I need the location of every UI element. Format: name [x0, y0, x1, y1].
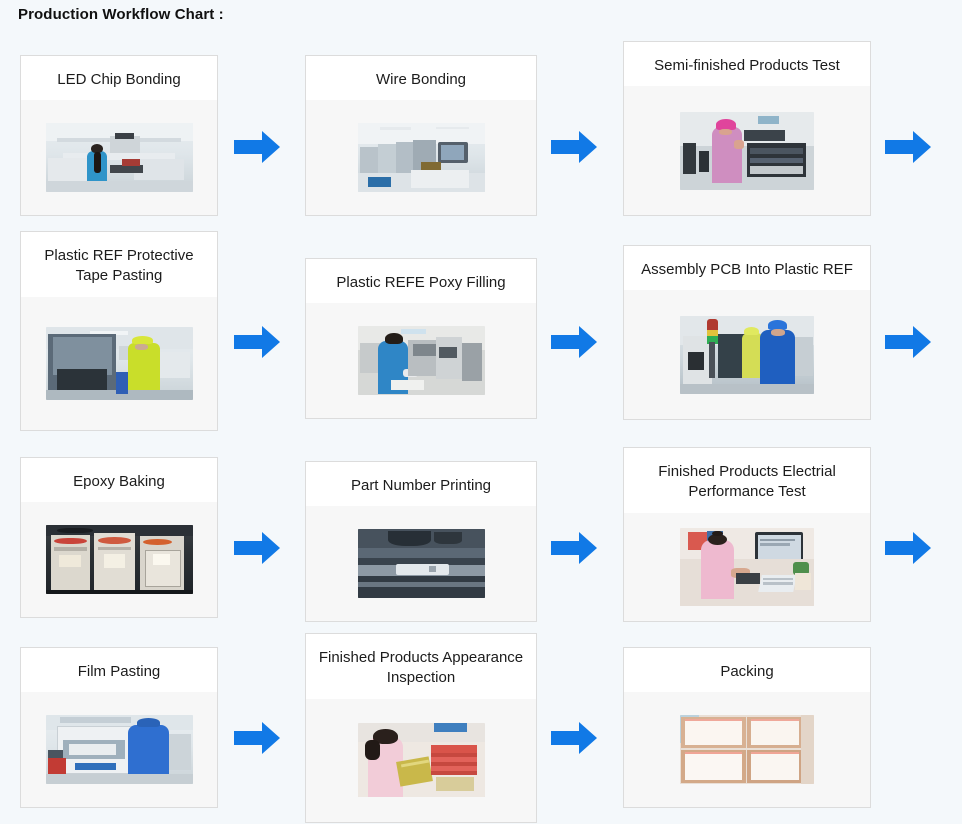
- arrow-right-icon: [549, 528, 599, 568]
- workflow-step-media-2: [306, 100, 536, 215]
- workflow-step-media-6: [624, 290, 870, 419]
- workflow-step-label-3: Semi-finished Products Test: [624, 42, 870, 86]
- workflow-step-media-11: [306, 699, 536, 823]
- arrow-right-icon-10-11: [232, 718, 282, 758]
- arrow-right-icon-3-4: [883, 127, 933, 167]
- workflow-step-media-7: [21, 502, 217, 617]
- packing-photo: [680, 715, 814, 784]
- workflow-step-card-9[interactable]: Finished Products Electrial Performance …: [623, 447, 871, 622]
- workflow-step-card-3[interactable]: Semi-finished Products Test: [623, 41, 871, 216]
- workflow-step-card-2[interactable]: Wire Bonding: [305, 55, 537, 216]
- arrow-right-icon: [232, 718, 282, 758]
- plastic-ref-protective-tape-pasting-photo: [46, 327, 193, 400]
- workflow-step-label-2: Wire Bonding: [306, 56, 536, 100]
- workflow-step-media-10: [21, 692, 217, 807]
- led-chip-bonding-photo: [46, 123, 193, 192]
- workflow-step-media-1: [21, 100, 217, 215]
- arrow-right-icon-6-7: [883, 322, 933, 362]
- workflow-step-card-7[interactable]: Epoxy Baking: [20, 457, 218, 618]
- workflow-step-label-1: LED Chip Bonding: [21, 56, 217, 100]
- arrow-right-icon-1-2: [232, 127, 282, 167]
- arrow-right-icon: [549, 718, 599, 758]
- wire-bonding-photo: [358, 123, 485, 192]
- part-number-printing-photo: [358, 529, 485, 598]
- film-pasting-photo: [46, 715, 193, 784]
- arrow-right-icon: [232, 528, 282, 568]
- finished-products-appearance-inspection-photo: [358, 723, 485, 797]
- page-title: Production Workflow Chart :: [18, 6, 224, 23]
- workflow-step-label-7: Epoxy Baking: [21, 458, 217, 502]
- workflow-step-label-5: Plastic REFE Poxy Filling: [306, 259, 536, 303]
- arrow-right-icon: [549, 127, 599, 167]
- epoxy-baking-photo: [46, 525, 193, 594]
- workflow-step-label-10: Film Pasting: [21, 648, 217, 692]
- arrow-right-icon: [232, 127, 282, 167]
- workflow-step-card-10[interactable]: Film Pasting: [20, 647, 218, 808]
- workflow-step-label-8: Part Number Printing: [306, 462, 536, 506]
- arrow-right-icon-8-9: [549, 528, 599, 568]
- arrow-right-icon: [232, 322, 282, 362]
- workflow-step-media-3: [624, 86, 870, 215]
- workflow-step-card-5[interactable]: Plastic REFE Poxy Filling: [305, 258, 537, 419]
- workflow-step-label-9: Finished Products Electrial Performance …: [624, 448, 870, 513]
- arrow-right-icon-9-10: [883, 528, 933, 568]
- workflow-step-label-12: Packing: [624, 648, 870, 692]
- workflow-step-card-6[interactable]: Assembly PCB Into Plastic REF: [623, 245, 871, 420]
- arrow-right-icon: [549, 322, 599, 362]
- plastic-refe-poxy-filling-photo: [358, 326, 485, 395]
- workflow-step-label-6: Assembly PCB Into Plastic REF: [624, 246, 870, 290]
- workflow-step-card-11[interactable]: Finished Products Appearance Inspection: [305, 633, 537, 823]
- workflow-step-card-4[interactable]: Plastic REF Protective Tape Pasting: [20, 231, 218, 431]
- arrow-right-icon: [883, 322, 933, 362]
- finished-products-electrial-performance-test-photo: [680, 528, 814, 606]
- semi-finished-products-test-photo: [680, 112, 814, 190]
- arrow-right-icon-5-6: [549, 322, 599, 362]
- arrow-right-icon: [883, 528, 933, 568]
- workflow-step-label-4: Plastic REF Protective Tape Pasting: [21, 232, 217, 297]
- arrow-right-icon-2-3: [549, 127, 599, 167]
- arrow-right-icon-7-8: [232, 528, 282, 568]
- workflow-step-media-5: [306, 303, 536, 418]
- workflow-step-card-12[interactable]: Packing: [623, 647, 871, 808]
- workflow-step-media-8: [306, 506, 536, 621]
- arrow-right-icon-11-12: [549, 718, 599, 758]
- workflow-step-media-4: [21, 297, 217, 431]
- workflow-step-media-9: [624, 513, 870, 622]
- workflow-step-card-1[interactable]: LED Chip Bonding: [20, 55, 218, 216]
- arrow-right-icon: [883, 127, 933, 167]
- workflow-step-media-12: [624, 692, 870, 807]
- arrow-right-icon-4-5: [232, 322, 282, 362]
- assembly-pcb-into-plastic-ref-photo: [680, 316, 814, 394]
- workflow-step-label-11: Finished Products Appearance Inspection: [306, 634, 536, 699]
- workflow-step-card-8[interactable]: Part Number Printing: [305, 461, 537, 622]
